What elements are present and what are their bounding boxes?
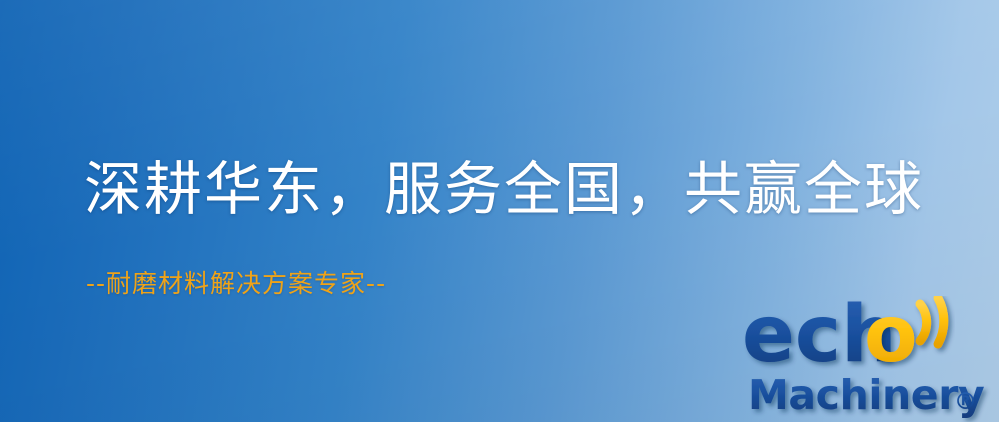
logo-tagline-group: Machinery ® xyxy=(748,371,984,419)
logo-tagline: Machinery xyxy=(748,371,984,419)
banner-headline: 深耕华东，服务全国，共赢全球 xyxy=(84,155,924,223)
hero-banner: 深耕华东，服务全国，共赢全球 --耐磨材料解决方案专家-- xyxy=(0,0,999,422)
signal-arc-inner xyxy=(920,304,927,341)
logo-registered-mark: ® xyxy=(954,389,977,415)
banner-subtitle: --耐磨材料解决方案专家-- xyxy=(86,268,386,300)
logo-text-o: o xyxy=(864,296,918,380)
signal-arc-outer xyxy=(938,298,944,344)
logo-graphic: ech o Machinery ® xyxy=(742,296,997,422)
logo-wordmark-o: o xyxy=(864,296,918,380)
signal-arcs-icon xyxy=(920,298,944,344)
echo-machinery-logo[interactable]: ech o Machinery ® xyxy=(742,296,997,422)
